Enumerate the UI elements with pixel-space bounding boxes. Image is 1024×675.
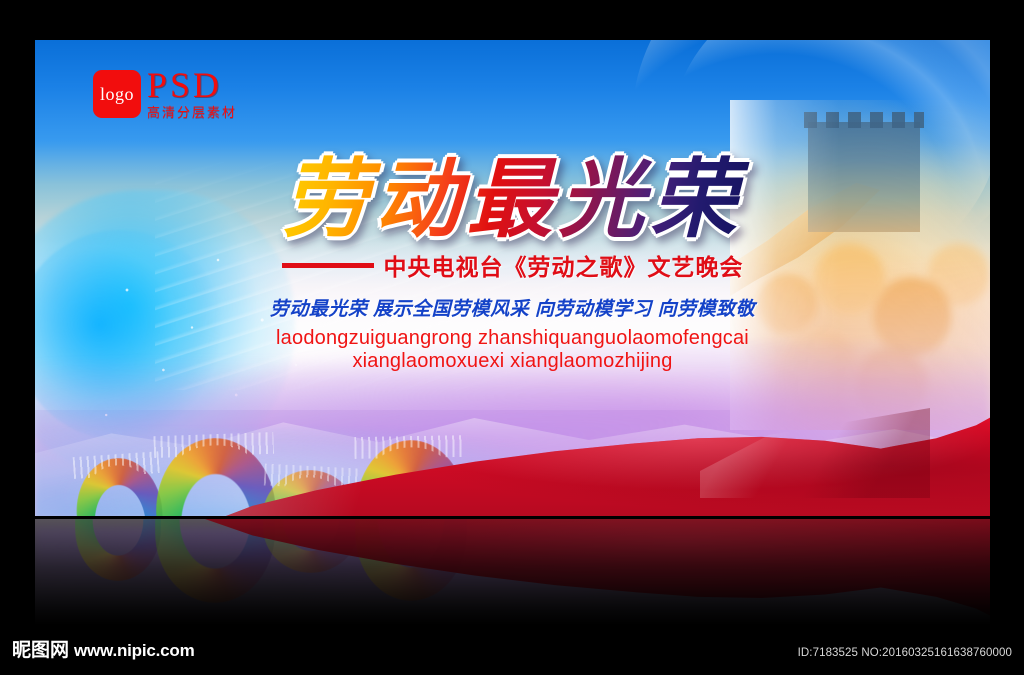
poster-subtitle-row: 中央电视台《劳动之歌》文艺晚会 [35, 248, 990, 282]
nipic-logo-cn: 昵图网 [12, 635, 69, 662]
logo-text-group: PSD 高清分层素材 [147, 66, 237, 120]
logo-brand-psd: PSD [147, 66, 237, 104]
nipic-watermark[interactable]: 昵图网 www.nipic.com [12, 635, 195, 662]
poster-pinyin-line-1: laodongzuiguangrong zhanshiquanguolaomof… [35, 327, 990, 350]
poster-main-title: 劳动最光荣 [275, 148, 751, 252]
dragon-icon-1 [73, 455, 163, 518]
logo-badge-label: logo [100, 84, 134, 105]
dragon-spines [153, 432, 274, 458]
psd-logo: logo PSD 高清分层素材 [93, 70, 237, 120]
poster-reflection [35, 519, 990, 625]
dragon-spines [354, 435, 466, 459]
logo-badge: logo [93, 70, 141, 118]
logo-tagline: 高清分层素材 [147, 105, 237, 120]
reflection-dragon-1 [75, 519, 161, 581]
nipic-site-url: www.nipic.com [74, 641, 195, 661]
screenshot-stage: logo PSD 高清分层素材 劳动最光荣 中央电视台《劳动之歌》文艺晚会 劳动… [0, 0, 1024, 675]
dragon-body [75, 519, 161, 581]
poster-text-block: 劳动最光荣 中央电视台《劳动之歌》文艺晚会 劳动最光荣 展示全国劳模风采 向劳动… [35, 148, 990, 373]
watermark-footer: 昵图网 www.nipic.com ID:7183525 NO:20160325… [0, 625, 1024, 675]
poster-artboard: logo PSD 高清分层素材 劳动最光荣 中央电视台《劳动之歌》文艺晚会 劳动… [35, 40, 990, 518]
poster-slogan: 劳动最光荣 展示全国劳模风采 向劳动模学习 向劳模致敬 [35, 294, 990, 321]
poster-pinyin-line-2: xianglaomoxuexi xianglaomozhijing [35, 350, 990, 373]
subtitle-rule [282, 263, 374, 268]
image-id-meta: ID:7183525 NO:20160325161638760000 [798, 647, 1012, 659]
poster-subtitle: 中央电视台《劳动之歌》文艺晚会 [384, 248, 744, 282]
